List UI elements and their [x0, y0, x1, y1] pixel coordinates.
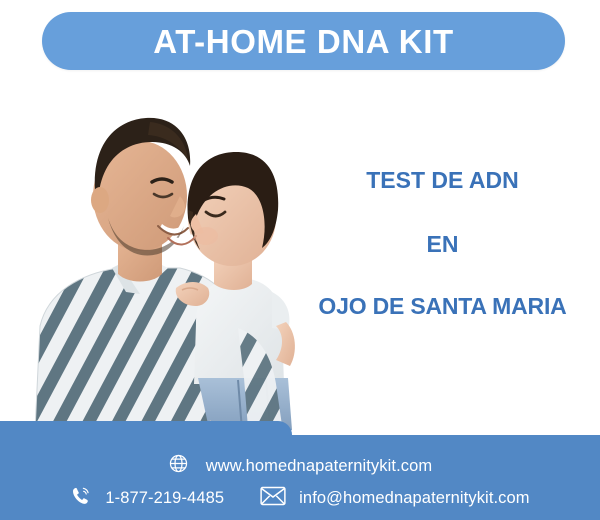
website-label[interactable]: www.homednapaternitykit.com — [206, 457, 432, 476]
phone-group[interactable]: 1-877-219-4485 — [70, 485, 224, 512]
father-and-child-illustration — [0, 78, 320, 453]
headline-line-3: OJO DE SANTA MARIA — [295, 294, 590, 319]
footer-notch — [0, 421, 292, 437]
phone-label[interactable]: 1-877-219-4485 — [105, 489, 224, 508]
email-group[interactable]: info@homednapaternitykit.com — [260, 486, 530, 511]
envelope-icon — [260, 486, 286, 511]
headline-block: TEST DE ADN EN OJO DE SANTA MARIA — [295, 150, 590, 319]
email-label[interactable]: info@homednapaternitykit.com — [299, 489, 530, 508]
page-title: AT-HOME DNA KIT — [153, 25, 453, 58]
headline-line-1: TEST DE ADN — [295, 168, 590, 193]
footer-website-row: www.homednapaternitykit.com — [0, 453, 600, 479]
headline-line-2: EN — [295, 232, 590, 257]
footer-contact-row: 1-877-219-4485 info@homednapaternitykit.… — [0, 485, 600, 512]
phone-icon — [70, 485, 92, 512]
poster-root: AT-HOME DNA KIT — [0, 0, 600, 520]
header-banner: AT-HOME DNA KIT — [42, 12, 565, 70]
hero-photo — [0, 78, 320, 453]
footer-bar: www.homednapaternitykit.com 1-877-219-44… — [0, 435, 600, 520]
globe-icon — [168, 453, 189, 479]
